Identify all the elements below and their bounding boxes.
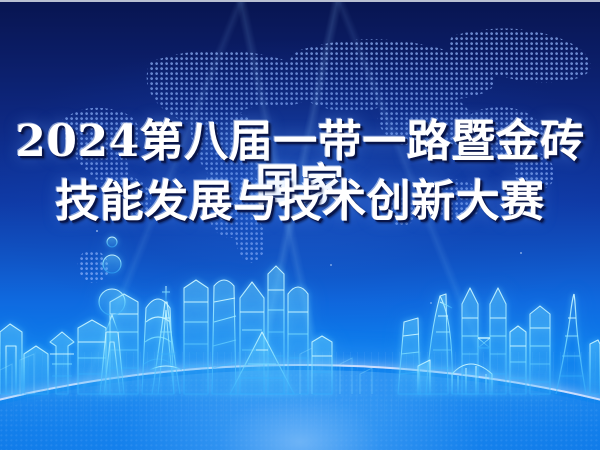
title-line-1: 2024第八届一带一路暨金砖国家 — [0, 120, 600, 172]
skyline-left-group — [0, 226, 332, 394]
poster-title: 2024第八届一带一路暨金砖国家 技能发展与技术创新大赛 — [0, 120, 600, 232]
sparkle-dot — [330, 264, 332, 266]
title-line-2: 技能发展与技术创新大赛 — [0, 180, 600, 232]
event-poster: 2024第八届一带一路暨金砖国家 技能发展与技术创新大赛 — [0, 0, 600, 450]
canton-tower — [556, 274, 586, 394]
oriental-pearl-tower — [99, 226, 125, 394]
skyline-right-group — [398, 268, 600, 394]
petronas-twin-towers — [462, 268, 506, 394]
sparkle-dot — [520, 252, 522, 254]
sparkle-dot — [430, 302, 432, 304]
